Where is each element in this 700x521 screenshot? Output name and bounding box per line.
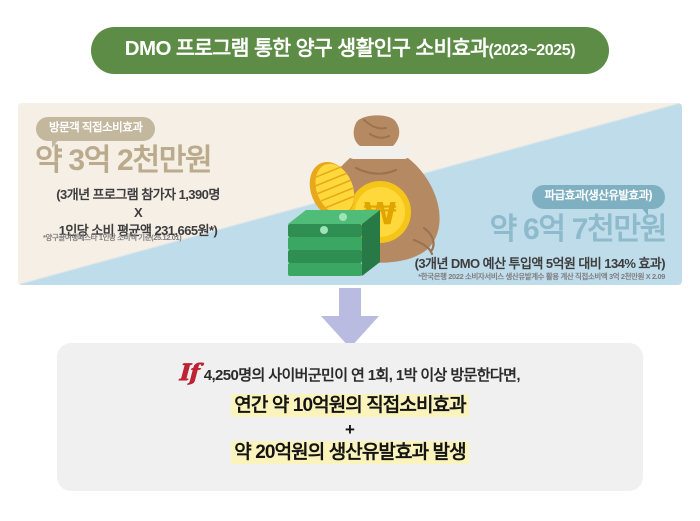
effects-panel: 방문객 직접소비효과 약 3억 2천만원 (3개년 프로그램 참가자 1,390… [18, 103, 682, 285]
page-title-main: DMO 프로그램 통한 양구 생활인구 소비효과 [125, 38, 489, 61]
badge-ripple-effect: 파급효과(생산유발효과) [532, 185, 665, 209]
footnote-direct-consumption: *양구꿀여행페스타 1인당 소비액 기준(25.12.01) [43, 234, 181, 243]
footnote-ripple-effect: *한국은행 2022 소비자서비스 생산유발계수 활용 계산 직접소비액 3억 … [418, 273, 665, 282]
conclusion-box: If 4,250명의 사이버군민이 연 1회, 1박 이상 방문한다면, 연간 … [57, 343, 643, 491]
page-title-years: (2023~2025) [488, 42, 575, 60]
page-title: DMO 프로그램 통한 양구 생활인구 소비효과(2023~2025) [91, 27, 609, 74]
conclusion-highlight-1-text: 연간 약 10억원의 직접소비효과 [231, 394, 468, 417]
conclusion-highlight-2: 약 20억원의 생산유발효과 발생 [231, 442, 468, 463]
amount-ripple-effect: 약 6억 7천만원 [490, 214, 666, 246]
detail-line-2: X [38, 204, 238, 222]
conclusion-condition-text: 4,250명의 사이버군민이 연 1회, 1박 이상 방문한다면, [204, 364, 520, 385]
badge-direct-consumption: 방문객 직접소비효과 [36, 117, 155, 141]
down-arrow-icon [319, 288, 381, 350]
conclusion-highlight-2-text: 약 20억원의 생산유발효과 발생 [231, 441, 468, 464]
detail-ripple-effect: (3개년 DMO 예산 투입액 5억원 대비 134% 효과) [415, 255, 665, 273]
plus-sign: + [345, 421, 355, 438]
if-mark: If [179, 359, 200, 386]
title-bar: DMO 프로그램 통한 양구 생활인구 소비효과(2023~2025) [0, 0, 700, 74]
conclusion-condition-line: If 4,250명의 사이버군민이 연 1회, 1박 이상 방문한다면, [180, 359, 520, 386]
detail-direct-consumption: (3개년 프로그램 참가자 1,390명 X 1인당 소비 평균액 231,66… [38, 186, 238, 240]
detail-line-1: (3개년 프로그램 참가자 1,390명 [38, 186, 238, 204]
conclusion-highlight-1: 연간 약 10억원의 직접소비효과 [231, 395, 468, 416]
amount-direct-consumption: 약 3억 2천만원 [35, 145, 211, 177]
